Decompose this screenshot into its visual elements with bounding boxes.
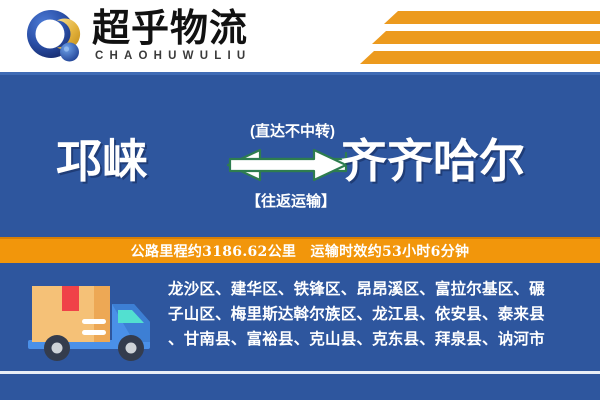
distance-duration-bar: 公路里程约3186.62公里 运输时效约53小时6分钟 bbox=[0, 237, 600, 263]
banner-header: 超乎物流 CHAOHUWULIU bbox=[0, 0, 600, 72]
delivery-truck-icon bbox=[22, 278, 162, 366]
coverage-district-list: 龙沙区、建华区、铁锋区、昂昂溪区、富拉尔基区、碾 子山区、梅里斯达斡尔族区、龙江… bbox=[168, 276, 588, 351]
brand-name: 超乎物流 bbox=[92, 8, 248, 50]
circle-crescent-logo-icon bbox=[26, 9, 82, 65]
direct-shipping-note: (直达不中转) bbox=[250, 120, 335, 141]
header-stripe-3 bbox=[360, 51, 600, 64]
destination-city: 齐齐哈尔 bbox=[341, 125, 525, 191]
district-line: 子山区、梅里斯达斡尔族区、龙江县、依安县、泰来县 bbox=[168, 301, 588, 326]
logistics-route-banner: 超乎物流 CHAOHUWULIU 邛崃 (直达不中转) 【往返运输】 齐齐哈尔 … bbox=[0, 0, 600, 400]
origin-city: 邛崃 bbox=[56, 125, 148, 191]
footer-strip bbox=[0, 374, 600, 400]
distance-duration-text: 公路里程约3186.62公里 运输时效约53小时6分钟 bbox=[131, 241, 470, 261]
roundtrip-note: 【往返运输】 bbox=[246, 190, 336, 211]
double-headed-arrow-icon bbox=[226, 148, 348, 182]
header-stripe-2 bbox=[372, 31, 600, 44]
brand-pinyin: CHAOHUWULIU bbox=[95, 50, 251, 62]
district-line: 、甘南县、富裕县、克山县、克东县、拜泉县、讷河市 bbox=[168, 326, 588, 351]
district-line: 龙沙区、建华区、铁锋区、昂昂溪区、富拉尔基区、碾 bbox=[168, 276, 588, 301]
header-stripe-1 bbox=[384, 11, 600, 24]
